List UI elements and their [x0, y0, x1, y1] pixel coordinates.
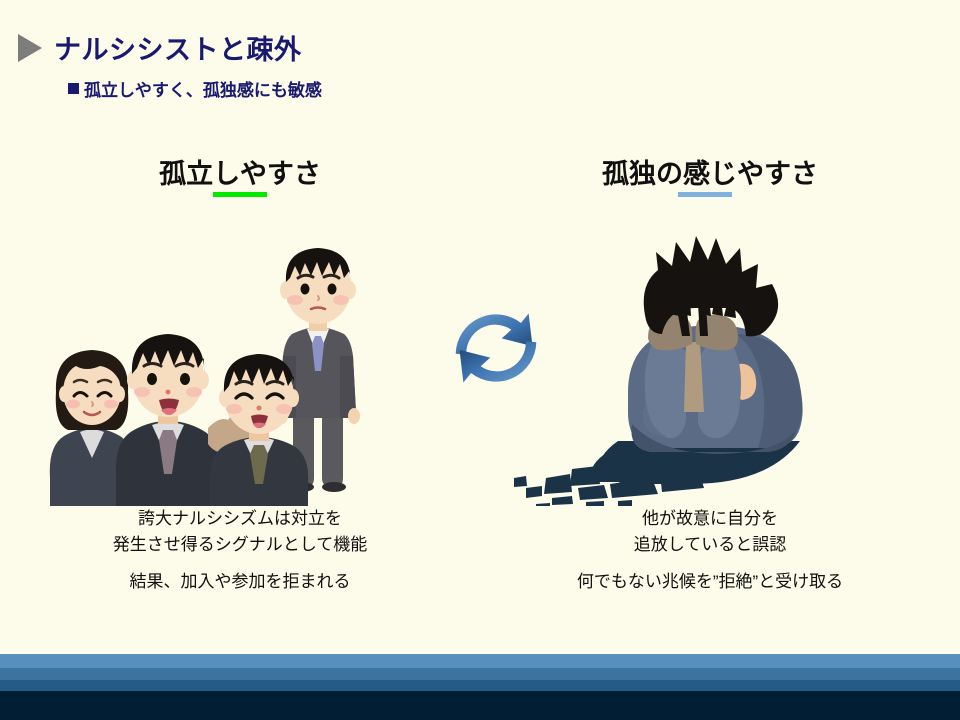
footer-band-medium-blue [0, 668, 960, 680]
column-left: 孤立しやすさ [30, 160, 450, 596]
column-left-accent-underline [213, 192, 267, 197]
column-right-heading: 孤独の感じやすさ [602, 160, 818, 190]
page-title: ナルシシストと疎外 [54, 28, 302, 67]
column-right: 孤独の感じやすさ [500, 160, 920, 596]
triangle-bullet-icon [18, 34, 42, 62]
title-row: ナルシシストと疎外 [18, 28, 718, 67]
subtitle-row: 孤立しやすく、孤独感にも敏感 [68, 76, 718, 101]
caption-line: 他が故意に自分を [500, 506, 920, 532]
despairing-person-figure [628, 236, 803, 454]
caption-spacer [30, 558, 450, 569]
footer-band-light-blue [0, 654, 960, 668]
caption-line: 結果、加入や参加を拒まれる [30, 569, 450, 595]
slide-canvas: ナルシシストと疎外 孤立しやすく、孤独感にも敏感 孤立しやすさ [0, 0, 960, 720]
caption-line: 誇大ナルシシズムは対立を [30, 506, 450, 532]
footer-band-dark-blue [0, 680, 960, 691]
page-subtitle: 孤立しやすく、孤独感にも敏感 [84, 76, 322, 101]
column-right-captions: 他が故意に自分を 追放していると誤認 何でもない兆候を”拒絶”と受け取る [500, 506, 920, 596]
cycle-arrows-icon [448, 300, 544, 396]
column-left-heading: 孤立しやすさ [159, 160, 321, 190]
title-block: ナルシシストと疎外 孤立しやすく、孤独感にも敏感 [18, 28, 718, 101]
column-right-accent-underline [678, 192, 732, 197]
caption-line: 発生させ得るシグナルとして機能 [30, 532, 450, 558]
column-left-heading-text: 孤立しやすさ [159, 159, 321, 189]
caption-spacer [500, 558, 920, 569]
person-head-in-hands-shattered-shadow-illustration [500, 216, 920, 506]
column-right-heading-text: 孤独の感じやすさ [602, 159, 818, 189]
square-bullet-icon [68, 83, 79, 94]
footer-band-navy [0, 691, 960, 720]
column-left-captions: 誇大ナルシシズムは対立を 発生させ得るシグナルとして機能 結果、加入や参加を拒ま… [30, 506, 450, 596]
caption-line: 追放していると誤認 [500, 532, 920, 558]
group-of-people-excluding-one-illustration [30, 216, 450, 506]
caption-line: 何でもない兆候を”拒絶”と受け取る [500, 569, 920, 595]
